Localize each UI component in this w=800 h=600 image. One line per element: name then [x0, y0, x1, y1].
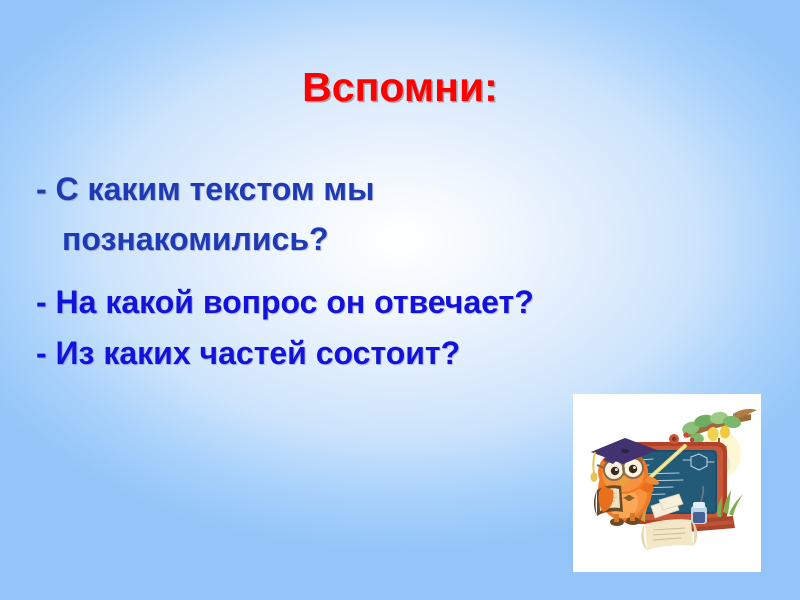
- slide-canvas: Вспомни: - С каким текстом мы познакомил…: [0, 0, 800, 600]
- bullet-list: - С каким текстом мы познакомились? - На…: [36, 164, 736, 378]
- bullet-item-2: - На какой вопрос он отвечает?: [36, 277, 736, 327]
- bullet-item-1-line-1: - С каким текстом мы: [36, 164, 736, 214]
- owl-teacher-illustration: [573, 394, 761, 572]
- owl-teacher-blackboard-icon: [573, 394, 761, 572]
- page-title: Вспомни:: [0, 64, 800, 111]
- bullet-item-1-line-2: познакомились?: [36, 214, 736, 264]
- bullet-item-3: - Из каких частей состоит?: [36, 328, 736, 378]
